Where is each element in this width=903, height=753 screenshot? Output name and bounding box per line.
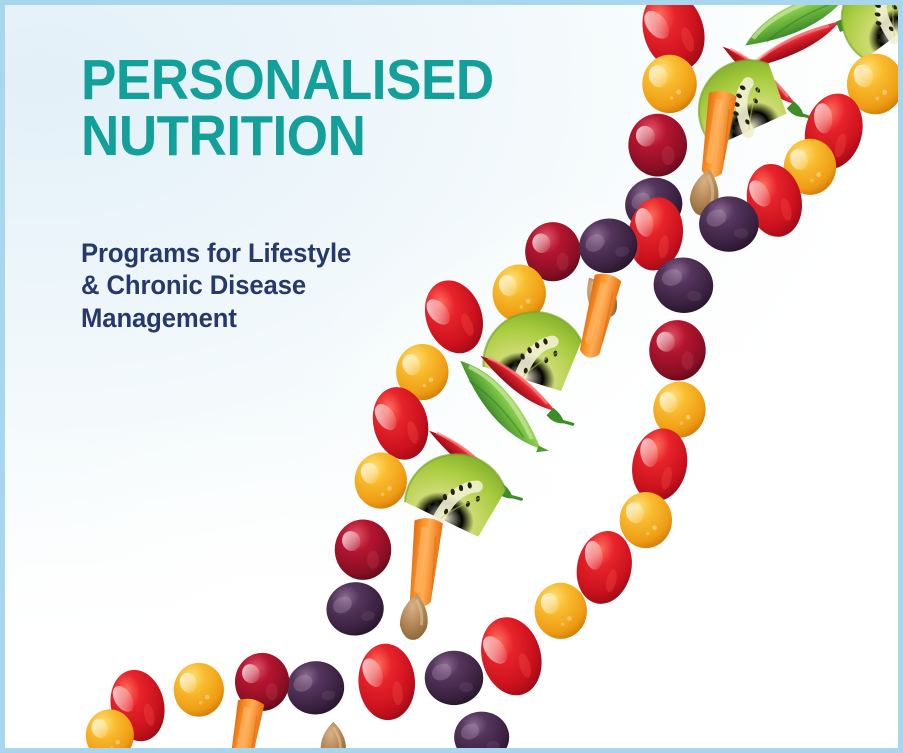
poster-canvas: PERSONALISED NUTRITION Programs for Life… [0, 0, 903, 753]
page-subtitle: Programs for Lifestyle & Chronic Disease… [81, 165, 499, 334]
page-title: PERSONALISED NUTRITION [81, 53, 490, 165]
title-block: PERSONALISED NUTRITION Programs for Life… [81, 53, 521, 334]
